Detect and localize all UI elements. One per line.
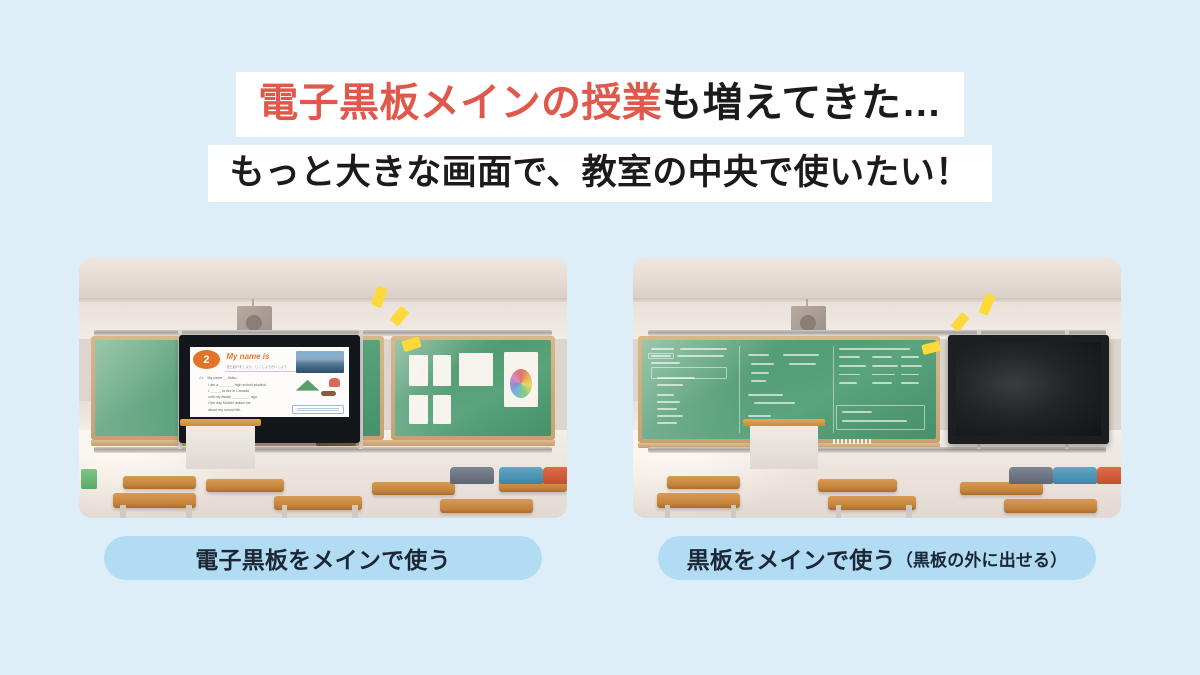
slide-illustration [295, 376, 344, 397]
student-desk [372, 482, 455, 495]
notice-sheet [433, 355, 452, 386]
chalkboard-column-divider [739, 346, 740, 433]
student-desk [206, 479, 284, 492]
notice-color-wheel [504, 352, 538, 408]
desk-leg [120, 505, 125, 518]
teacher-podium [186, 424, 254, 468]
headline-accent-text: 電子黒板メインの授業 [258, 81, 662, 125]
notice-chart [459, 353, 493, 386]
desk-leg [836, 505, 841, 518]
school-bag [1097, 467, 1121, 484]
slide-subtitle: 自己紹介をしよう、じこしょうかいしよう [226, 364, 287, 369]
trash-bin [81, 469, 97, 490]
headline-line-2: もっと大きな画面で、教室の中央で使いたい！ [208, 145, 993, 202]
headline-line-2-text: もっと大きな画面で、教室の中央で使いたい！ [230, 153, 971, 192]
photo-digital-board-classroom: 2 My name is 自己紹介をしよう、じこしょうかいしよう Ak:My n… [79, 258, 567, 518]
desk-leg [282, 505, 287, 518]
notice-sheet [409, 395, 428, 424]
card-digital-board-main: 2 My name is 自己紹介をしよう、じこしょうかいしよう Ak:My n… [79, 258, 567, 580]
display-panel-screen [956, 342, 1101, 436]
caption-pill-digital-board: 電子黒板をメインで使う [104, 536, 542, 580]
chalkboard-column-divider [833, 346, 834, 433]
student-desk [828, 496, 916, 510]
school-bag [543, 467, 567, 484]
comparison-cards: 2 My name is 自己紹介をしよう、じこしょうかいしよう Ak:My n… [0, 258, 1200, 580]
student-desk [667, 476, 740, 489]
chalkboard-surface-right [395, 340, 550, 436]
slide-title: My name is [226, 352, 269, 361]
student-desk [274, 496, 362, 510]
headline-block: 電子黒板メインの授業も増えてきた… もっと大きな画面で、教室の中央で使いたい！ [0, 72, 1200, 202]
slide-line: about my school life. [199, 407, 288, 413]
desk-leg [352, 505, 357, 518]
caption-pill-blackboard: 黒板をメインで使う （黒板の外に出せる） [658, 536, 1096, 580]
person-icon [329, 378, 340, 387]
headline-rest-text: も増えてきた… [662, 81, 942, 125]
school-bag [1009, 467, 1053, 484]
display-panel[interactable] [948, 335, 1109, 444]
student-desk [440, 499, 533, 513]
tent-icon [296, 380, 320, 391]
slide-speaker-label: Ak: [199, 376, 204, 380]
teacher-podium [750, 424, 818, 468]
school-bag [450, 467, 494, 484]
slide-note-box [292, 405, 344, 415]
desk-leg [731, 505, 736, 518]
student-desk [818, 479, 896, 492]
ceiling [79, 258, 567, 300]
photo-blackboard-classroom [633, 258, 1121, 518]
chalk-pieces [833, 439, 872, 443]
slide-landscape-photo [296, 351, 344, 373]
color-wheel-icon [510, 369, 532, 398]
teacher-podium-top [180, 419, 262, 426]
notice-sheet [433, 395, 452, 424]
pot-icon [321, 391, 336, 396]
digital-whiteboard-screen: 2 My name is 自己紹介をしよう、じこしょうかいしよう Ak:My n… [190, 347, 349, 417]
slide-body-text: Ak:My name ＿ Akiko. I am a ＿＿＿＿ high sch… [199, 375, 288, 413]
desk-leg [906, 505, 911, 518]
desk-leg [186, 505, 191, 518]
student-desk [1004, 499, 1097, 513]
display-rail-bottom [94, 447, 553, 454]
slide-number-badge: 2 [193, 350, 220, 369]
chalkboard-highlight-box [648, 353, 675, 359]
slide-divider [225, 371, 305, 372]
notice-sheet [409, 355, 428, 386]
desk-leg [665, 505, 670, 518]
caption-paren-text: （黒板の外に出せる） [896, 546, 1068, 571]
school-bag [499, 467, 543, 484]
teacher-podium-top [743, 419, 825, 426]
ceiling [633, 258, 1121, 300]
caption-main-text: 電子黒板をメインで使う [195, 541, 451, 575]
display-rail-bottom [648, 447, 1107, 454]
headline-line-1: 電子黒板メインの授業も増えてきた… [236, 72, 964, 137]
caption-main-text: 黒板をメインで使う [687, 541, 896, 575]
student-desk [123, 476, 196, 489]
card-blackboard-main: 黒板をメインで使う （黒板の外に出せる） [633, 258, 1121, 580]
chalkboard-right [391, 336, 554, 440]
school-bag [1053, 467, 1097, 484]
digital-whiteboard-tray [316, 443, 356, 447]
chalkboard-highlight-box [651, 367, 728, 380]
chalkboard-highlight-box [836, 405, 924, 430]
slide-line: My name ＿ Akiko. [208, 376, 238, 380]
